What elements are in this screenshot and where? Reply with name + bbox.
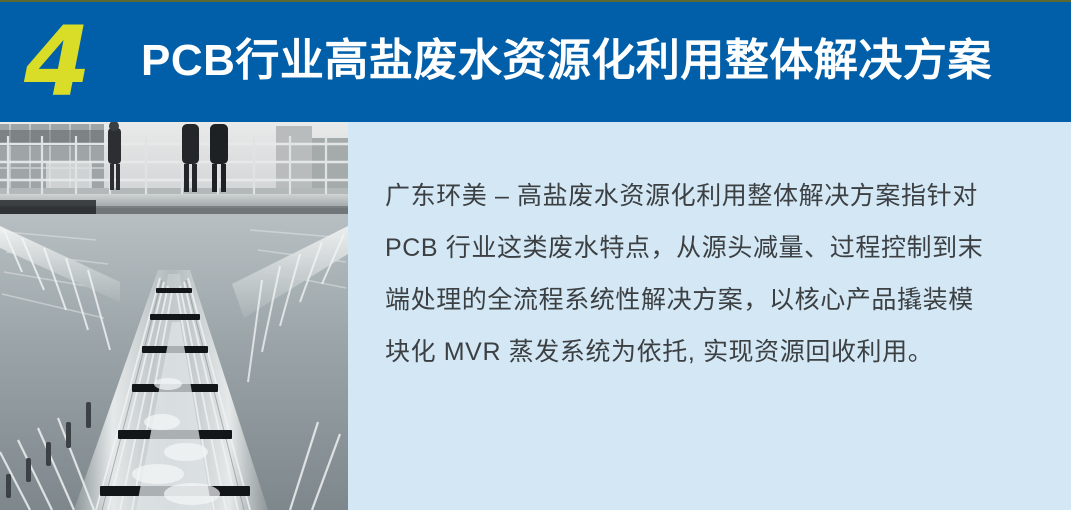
- body-line: 广东环美 – 高盐废水资源化利用整体解决方案指针对: [385, 170, 1030, 222]
- body-line: 块化 MVR 蒸发系统为依托, 实现资源回收利用。: [385, 326, 1030, 378]
- section-number: 4: [24, 12, 134, 112]
- slide-root: 4 PCB行业高盐废水资源化利用整体解决方案: [0, 0, 1071, 510]
- body-line: PCB 行业这类废水特点，从源头减量、过程控制到末: [385, 222, 1030, 274]
- page-title: PCB行业高盐废水资源化利用整体解决方案: [141, 26, 992, 96]
- wastewater-treatment-photo: [0, 122, 348, 510]
- top-edge-hairline: [0, 0, 1071, 2]
- description-panel: 广东环美 – 高盐废水资源化利用整体解决方案指针对 PCB 行业这类废水特点，从…: [348, 122, 1071, 510]
- photo-illustration: [0, 122, 348, 510]
- body-line: 端处理的全流程系统性解决方案，以核心产品撬装模: [385, 274, 1030, 326]
- body-copy: 广东环美 – 高盐废水资源化利用整体解决方案指针对 PCB 行业这类废水特点，从…: [385, 170, 1030, 378]
- header-bar: 4 PCB行业高盐废水资源化利用整体解决方案: [0, 0, 1071, 122]
